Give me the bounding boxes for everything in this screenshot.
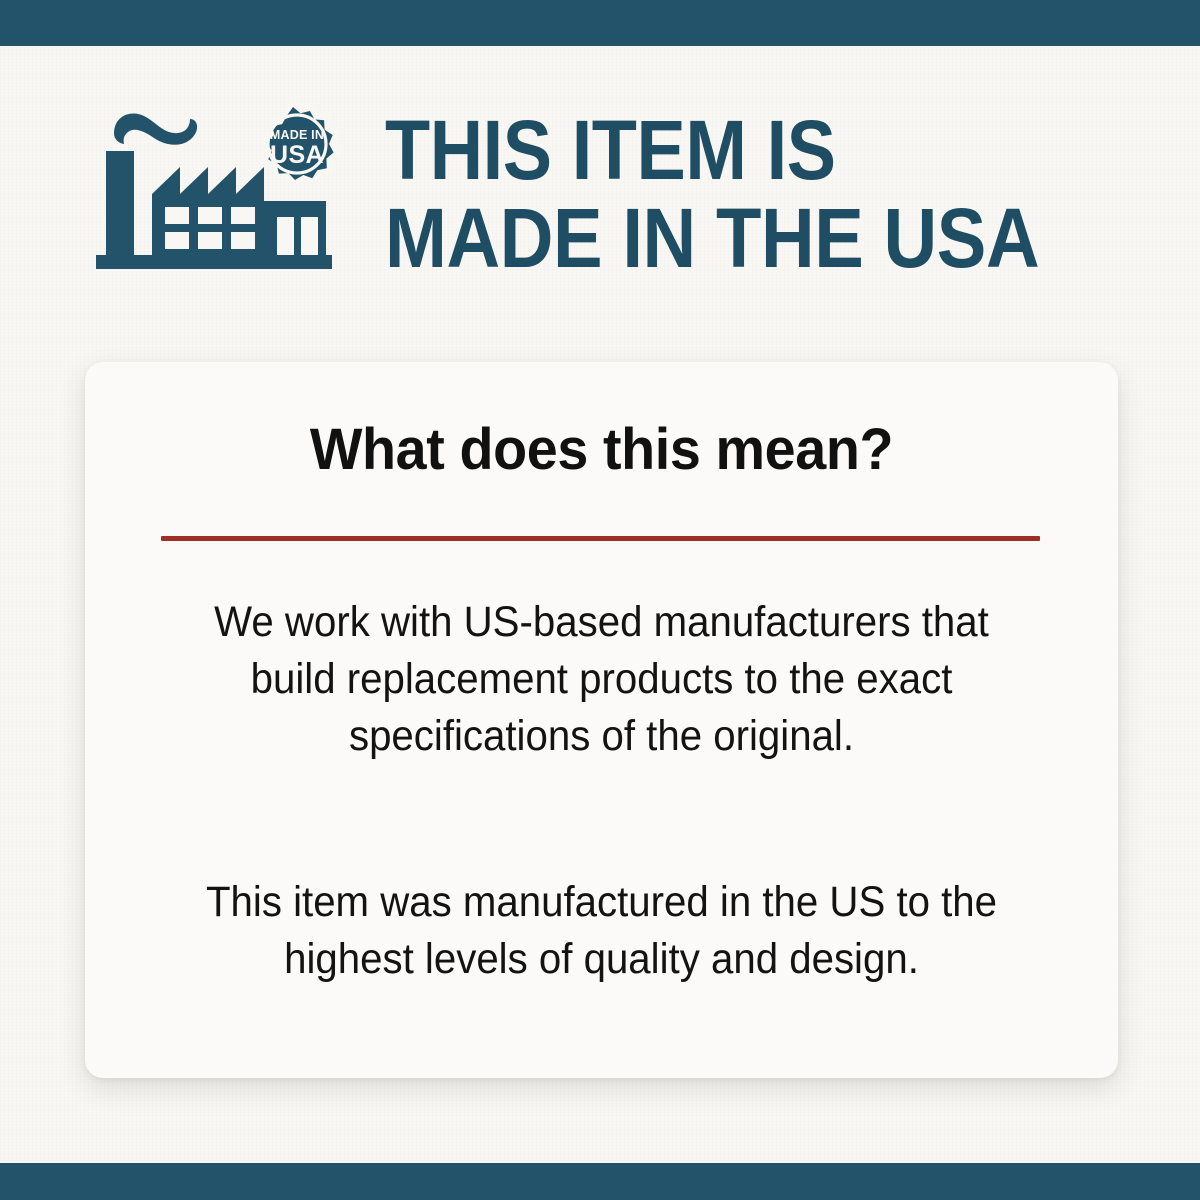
made-in-usa-badge: MADE IN USA xyxy=(262,101,343,185)
badge-line-1: MADE IN xyxy=(270,128,324,142)
badge-line-2: USA xyxy=(270,141,324,169)
card-heading: What does this mean? xyxy=(106,420,1098,480)
page-title-line-1: THIS ITEM IS xyxy=(385,106,1080,194)
smoke-plume-icon xyxy=(114,113,197,144)
chimney-shape xyxy=(106,151,134,255)
bottom-color-band xyxy=(0,1163,1200,1200)
top-color-band xyxy=(0,0,1200,46)
explanation-card: What does this mean? We work with US-bas… xyxy=(85,362,1118,1078)
card-paragraph-1: We work with US-based manufacturers that… xyxy=(173,594,1030,765)
page-canvas: MADE IN USA THIS ITEM IS MADE IN THE USA… xyxy=(0,0,1200,1200)
header-section: MADE IN USA THIS ITEM IS MADE IN THE USA xyxy=(0,46,1200,346)
factory-base xyxy=(96,255,332,269)
page-title-line-2: MADE IN THE USA xyxy=(385,194,1084,282)
card-divider xyxy=(161,536,1040,541)
made-in-usa-logo: MADE IN USA xyxy=(96,101,346,276)
card-paragraph-2: This item was manufactured in the US to … xyxy=(173,874,1030,988)
page-title: THIS ITEM IS MADE IN THE USA xyxy=(385,106,1175,282)
